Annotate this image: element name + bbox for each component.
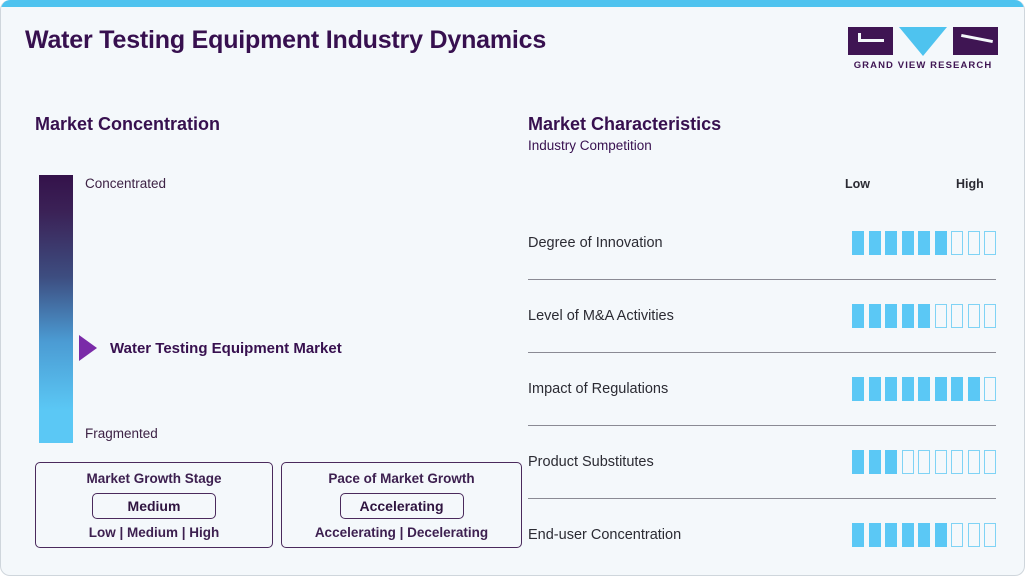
bar-segment-empty: [968, 523, 980, 547]
bar-segment-empty: [951, 523, 963, 547]
bar-segment-filled: [869, 450, 881, 474]
bar-segment-empty: [968, 304, 980, 328]
axis-label-high: High: [956, 177, 984, 191]
characteristic-row: End-user Concentration: [528, 498, 996, 571]
concentration-gradient-chart: Concentrated Fragmented Water Testing Eq…: [35, 175, 515, 450]
logo-square-right-icon: [953, 27, 998, 55]
top-accent-strip: [1, 0, 1025, 7]
bar-segment-filled: [902, 377, 914, 401]
characteristic-row: Impact of Regulations: [528, 352, 996, 425]
characteristic-bar-track: [852, 450, 996, 474]
market-concentration-title: Market Concentration: [35, 114, 515, 135]
card-scale: Accelerating | Decelerating: [294, 525, 509, 540]
characteristic-label: End-user Concentration: [528, 527, 852, 543]
bar-segment-filled: [918, 231, 930, 255]
triangle-pointer-icon: [79, 335, 97, 361]
bar-segment-filled: [918, 377, 930, 401]
characteristic-label: Impact of Regulations: [528, 381, 852, 397]
concentration-gradient-bar: [39, 175, 73, 443]
characteristic-row: Product Substitutes: [528, 425, 996, 498]
characteristic-label: Product Substitutes: [528, 454, 852, 470]
bar-segment-filled: [869, 377, 881, 401]
bar-segment-empty: [984, 450, 996, 474]
card-value-pill: Accelerating: [340, 493, 464, 519]
characteristic-row: Level of M&A Activities: [528, 279, 996, 352]
bar-segment-filled: [885, 450, 897, 474]
stat-cards: Market Growth Stage Medium Low | Medium …: [35, 462, 522, 548]
bar-segment-filled: [852, 231, 864, 255]
logo-wordmark: GRAND VIEW RESEARCH: [848, 60, 998, 71]
bar-segment-empty: [918, 450, 930, 474]
bar-segment-empty: [984, 304, 996, 328]
bar-segment-filled: [852, 523, 864, 547]
concentration-bottom-label: Fragmented: [85, 426, 158, 441]
market-concentration-panel: Market Concentration Concentrated Fragme…: [35, 114, 515, 450]
infographic-canvas: Water Testing Equipment Industry Dynamic…: [0, 0, 1025, 576]
bar-segment-filled: [935, 231, 947, 255]
characteristic-label: Degree of Innovation: [528, 235, 852, 251]
market-characteristics-title: Market Characteristics: [528, 114, 996, 135]
bar-segment-filled: [869, 523, 881, 547]
bar-segment-empty: [984, 377, 996, 401]
bar-segment-filled: [951, 377, 963, 401]
card-value-pill: Medium: [92, 493, 216, 519]
bar-segment-empty: [951, 231, 963, 255]
scale-axis-labels: Low High: [528, 177, 996, 197]
bar-segment-empty: [935, 450, 947, 474]
page-title: Water Testing Equipment Industry Dynamic…: [25, 26, 546, 55]
bar-segment-empty: [902, 450, 914, 474]
concentration-top-label: Concentrated: [85, 176, 166, 191]
pace-of-market-growth-card: Pace of Market Growth Accelerating Accel…: [281, 462, 522, 548]
characteristics-rows: Degree of InnovationLevel of M&A Activit…: [528, 206, 996, 571]
card-scale: Low | Medium | High: [48, 525, 260, 540]
bar-segment-empty: [935, 304, 947, 328]
bar-segment-filled: [902, 231, 914, 255]
bar-segment-filled: [935, 523, 947, 547]
bar-segment-filled: [869, 304, 881, 328]
axis-label-low: Low: [845, 177, 870, 191]
bar-segment-filled: [885, 377, 897, 401]
bar-segment-filled: [885, 231, 897, 255]
market-position-marker: Water Testing Equipment Market: [79, 335, 342, 361]
bar-segment-filled: [902, 523, 914, 547]
bar-segment-filled: [902, 304, 914, 328]
bar-segment-empty: [951, 450, 963, 474]
bar-segment-empty: [968, 231, 980, 255]
bar-segment-filled: [968, 377, 980, 401]
characteristic-bar-track: [852, 231, 996, 255]
bar-segment-filled: [918, 304, 930, 328]
characteristic-bar-track: [852, 304, 996, 328]
bar-segment-filled: [852, 450, 864, 474]
market-position-label: Water Testing Equipment Market: [110, 340, 342, 357]
bar-segment-filled: [885, 304, 897, 328]
bar-segment-filled: [852, 304, 864, 328]
bar-segment-empty: [968, 450, 980, 474]
bar-segment-filled: [852, 377, 864, 401]
grand-view-research-logo: GRAND VIEW RESEARCH: [848, 27, 998, 71]
market-characteristics-subtitle: Industry Competition: [528, 138, 996, 153]
characteristic-bar-track: [852, 377, 996, 401]
bar-segment-filled: [935, 377, 947, 401]
logo-marks: [848, 27, 998, 55]
bar-segment-empty: [984, 231, 996, 255]
card-title: Pace of Market Growth: [294, 471, 509, 486]
bar-segment-filled: [918, 523, 930, 547]
characteristic-label: Level of M&A Activities: [528, 308, 852, 324]
logo-square-left-icon: [848, 27, 893, 55]
characteristic-bar-track: [852, 523, 996, 547]
market-characteristics-panel: Market Characteristics Industry Competit…: [528, 114, 996, 571]
card-title: Market Growth Stage: [48, 471, 260, 486]
bar-segment-empty: [951, 304, 963, 328]
logo-triangle-icon: [899, 27, 947, 56]
bar-segment-filled: [869, 231, 881, 255]
market-growth-stage-card: Market Growth Stage Medium Low | Medium …: [35, 462, 273, 548]
bar-segment-empty: [984, 523, 996, 547]
characteristic-row: Degree of Innovation: [528, 206, 996, 279]
bar-segment-filled: [885, 523, 897, 547]
